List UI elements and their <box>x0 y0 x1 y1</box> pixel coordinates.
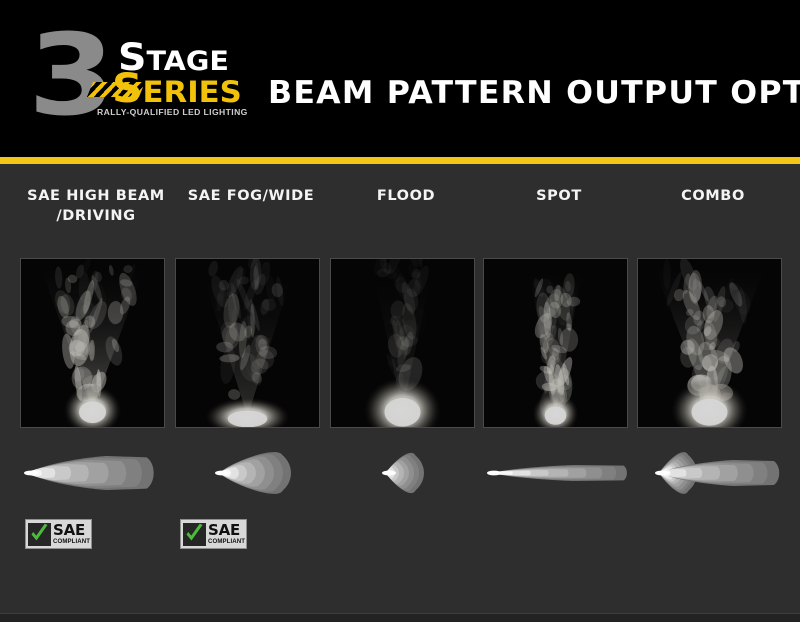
beam-pattern-photo <box>637 258 782 428</box>
badge-text: SAECOMPLIANT <box>208 523 245 545</box>
stage-series-logo: 3 STAGE SERIES RALLY-QUALIFIED LED LIGHT… <box>28 26 246 130</box>
beam-pattern-photo <box>175 258 320 428</box>
beam-photo-canvas <box>21 259 164 427</box>
logo-stage-rest: TAGE <box>146 46 228 77</box>
beam-option-column: COMBO <box>637 164 789 613</box>
badge-text: SAECOMPLIANT <box>53 523 90 545</box>
beam-option-column: SAE FOG/WIDE SAECOMPLIANT <box>175 164 327 613</box>
beam-photo-canvas <box>638 259 781 427</box>
beam-pattern-photo <box>483 258 628 428</box>
bottom-strip <box>0 614 800 622</box>
logo-word-series: SERIES <box>112 75 242 107</box>
checkmark-icon <box>28 523 51 546</box>
beam-option-label-line1: SAE HIGH BEAM <box>27 188 165 204</box>
logo-series-capital: S <box>112 66 143 112</box>
beam-option-label: SAE FOG/WIDE <box>175 186 327 206</box>
beam-spread-diagram <box>328 442 483 504</box>
beam-option-label-line2: /DRIVING <box>56 208 135 224</box>
beam-spread-diagram <box>481 442 636 504</box>
badge-sae-label: SAE <box>53 523 90 538</box>
beam-option-label: SPOT <box>483 186 635 206</box>
beam-pattern-photo <box>330 258 475 428</box>
logo-tagline: RALLY-QUALIFIED LED LIGHTING <box>97 107 248 117</box>
beam-pattern-photo <box>20 258 165 428</box>
badge-sae-label: SAE <box>208 523 245 538</box>
beam-option-label: FLOOD <box>330 186 482 206</box>
checkmark-icon <box>183 523 206 546</box>
beam-photo-canvas <box>484 259 627 427</box>
beam-option-label: COMBO <box>637 186 789 206</box>
badge-compliant-label: COMPLIANT <box>53 539 90 545</box>
logo-series-rest: ERIES <box>143 75 242 109</box>
beam-photo-canvas <box>331 259 474 427</box>
beam-option-column: SPOT <box>483 164 635 613</box>
beam-spread-diagram <box>173 442 328 504</box>
yellow-accent-divider <box>0 157 800 164</box>
beam-spread-diagram <box>18 442 173 504</box>
sae-compliant-badge: SAECOMPLIANT <box>180 519 247 549</box>
beam-option-column: FLOOD <box>330 164 482 613</box>
beam-option-column: SAE HIGH BEAM/DRIVING SAECOMPLIANT <box>20 164 172 613</box>
badge-compliant-label: COMPLIANT <box>208 539 245 545</box>
beam-photo-canvas <box>176 259 319 427</box>
beam-option-label: SAE HIGH BEAM/DRIVING <box>20 186 172 226</box>
page-title: BEAM PATTERN OUTPUT OPTIONS <box>268 76 800 110</box>
sae-compliant-badge: SAECOMPLIANT <box>25 519 92 549</box>
beam-pattern-infographic: 3 STAGE SERIES RALLY-QUALIFIED LED LIGHT… <box>0 0 800 622</box>
header-banner: 3 STAGE SERIES RALLY-QUALIFIED LED LIGHT… <box>0 0 800 157</box>
beam-spread-diagram <box>635 442 790 504</box>
beam-options-grid: SAE HIGH BEAM/DRIVING SAECOMPLIANT <box>0 164 800 613</box>
